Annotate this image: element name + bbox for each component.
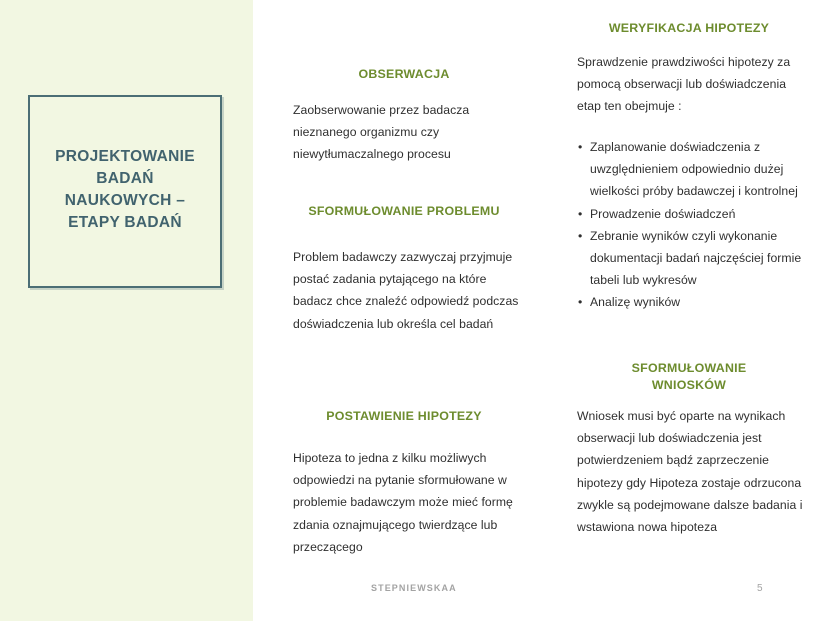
heading-weryfikacja-hipotezy: WERYFIKACJA HIPOTEZY xyxy=(577,20,801,37)
list-item: • Zaplanowanie doświadczenia z uwzględni… xyxy=(577,136,807,203)
heading-obserwacja: OBSERWACJA xyxy=(293,66,515,83)
bullet-dot-icon: • xyxy=(578,291,582,313)
left-accent-panel: PROJEKTOWANIE BADAŃ NAUKOWYCH – ETAPY BA… xyxy=(0,0,253,621)
heading-postawienie-hipotezy: POSTAWIENIE HIPOTEZY xyxy=(293,408,515,425)
list-item: • Prowadzenie doświadczeń xyxy=(577,203,807,225)
slide-canvas: PROJEKTOWANIE BADAŃ NAUKOWYCH – ETAPY BA… xyxy=(0,0,828,621)
body-sformulowanie-wnioskow: Wniosek musi być oparte na wynikach obse… xyxy=(577,405,809,538)
body-obserwacja: Zaobserwowanie przez badacza nieznanego … xyxy=(293,99,515,166)
bullet-dot-icon: • xyxy=(578,136,582,158)
list-item-label: Analizę wyników xyxy=(590,295,680,309)
list-item-label: Zaplanowanie doświadczenia z uwzględnien… xyxy=(590,140,798,198)
heading-sformulowanie-wnioskow: SFORMUŁOWANIE WNIOSKÓW xyxy=(577,360,801,394)
list-item-label: Zebranie wyników czyli wykonanie dokumen… xyxy=(590,229,801,287)
body-sformulowanie-problemu: Problem badawczy zazwyczaj przyjmuje pos… xyxy=(293,246,519,335)
list-item-label: Prowadzenie doświadczeń xyxy=(590,207,735,221)
body-weryfikacja-hipotezy: Sprawdzenie prawdziwości hipotezy za pom… xyxy=(577,51,801,118)
slide-title-box: PROJEKTOWANIE BADAŃ NAUKOWYCH – ETAPY BA… xyxy=(28,95,222,288)
bullet-list: • Zaplanowanie doświadczenia z uwzględni… xyxy=(577,136,807,314)
right-content-column: WERYFIKACJA HIPOTEZY Sprawdzenie prawdzi… xyxy=(577,0,801,621)
list-item: • Zebranie wyników czyli wykonanie dokum… xyxy=(577,225,807,292)
footer-page-number: 5 xyxy=(750,583,770,594)
page-title: PROJEKTOWANIE BADAŃ NAUKOWYCH – ETAPY BA… xyxy=(47,146,203,234)
body-postawienie-hipotezy: Hipoteza to jedna z kilku możliwych odpo… xyxy=(293,447,523,558)
bullet-dot-icon: • xyxy=(578,203,582,225)
weryfikacja-bullet-list: • Zaplanowanie doświadczenia z uwzględni… xyxy=(577,136,807,314)
middle-content-column: OBSERWACJA Zaobserwowanie przez badacza … xyxy=(293,0,515,621)
list-item: • Analizę wyników xyxy=(577,291,807,313)
heading-sformulowanie-problemu: SFORMUŁOWANIE PROBLEMU xyxy=(293,203,515,220)
footer-author: STEPNIEWSKAA xyxy=(371,583,457,593)
bullet-dot-icon: • xyxy=(578,225,582,247)
